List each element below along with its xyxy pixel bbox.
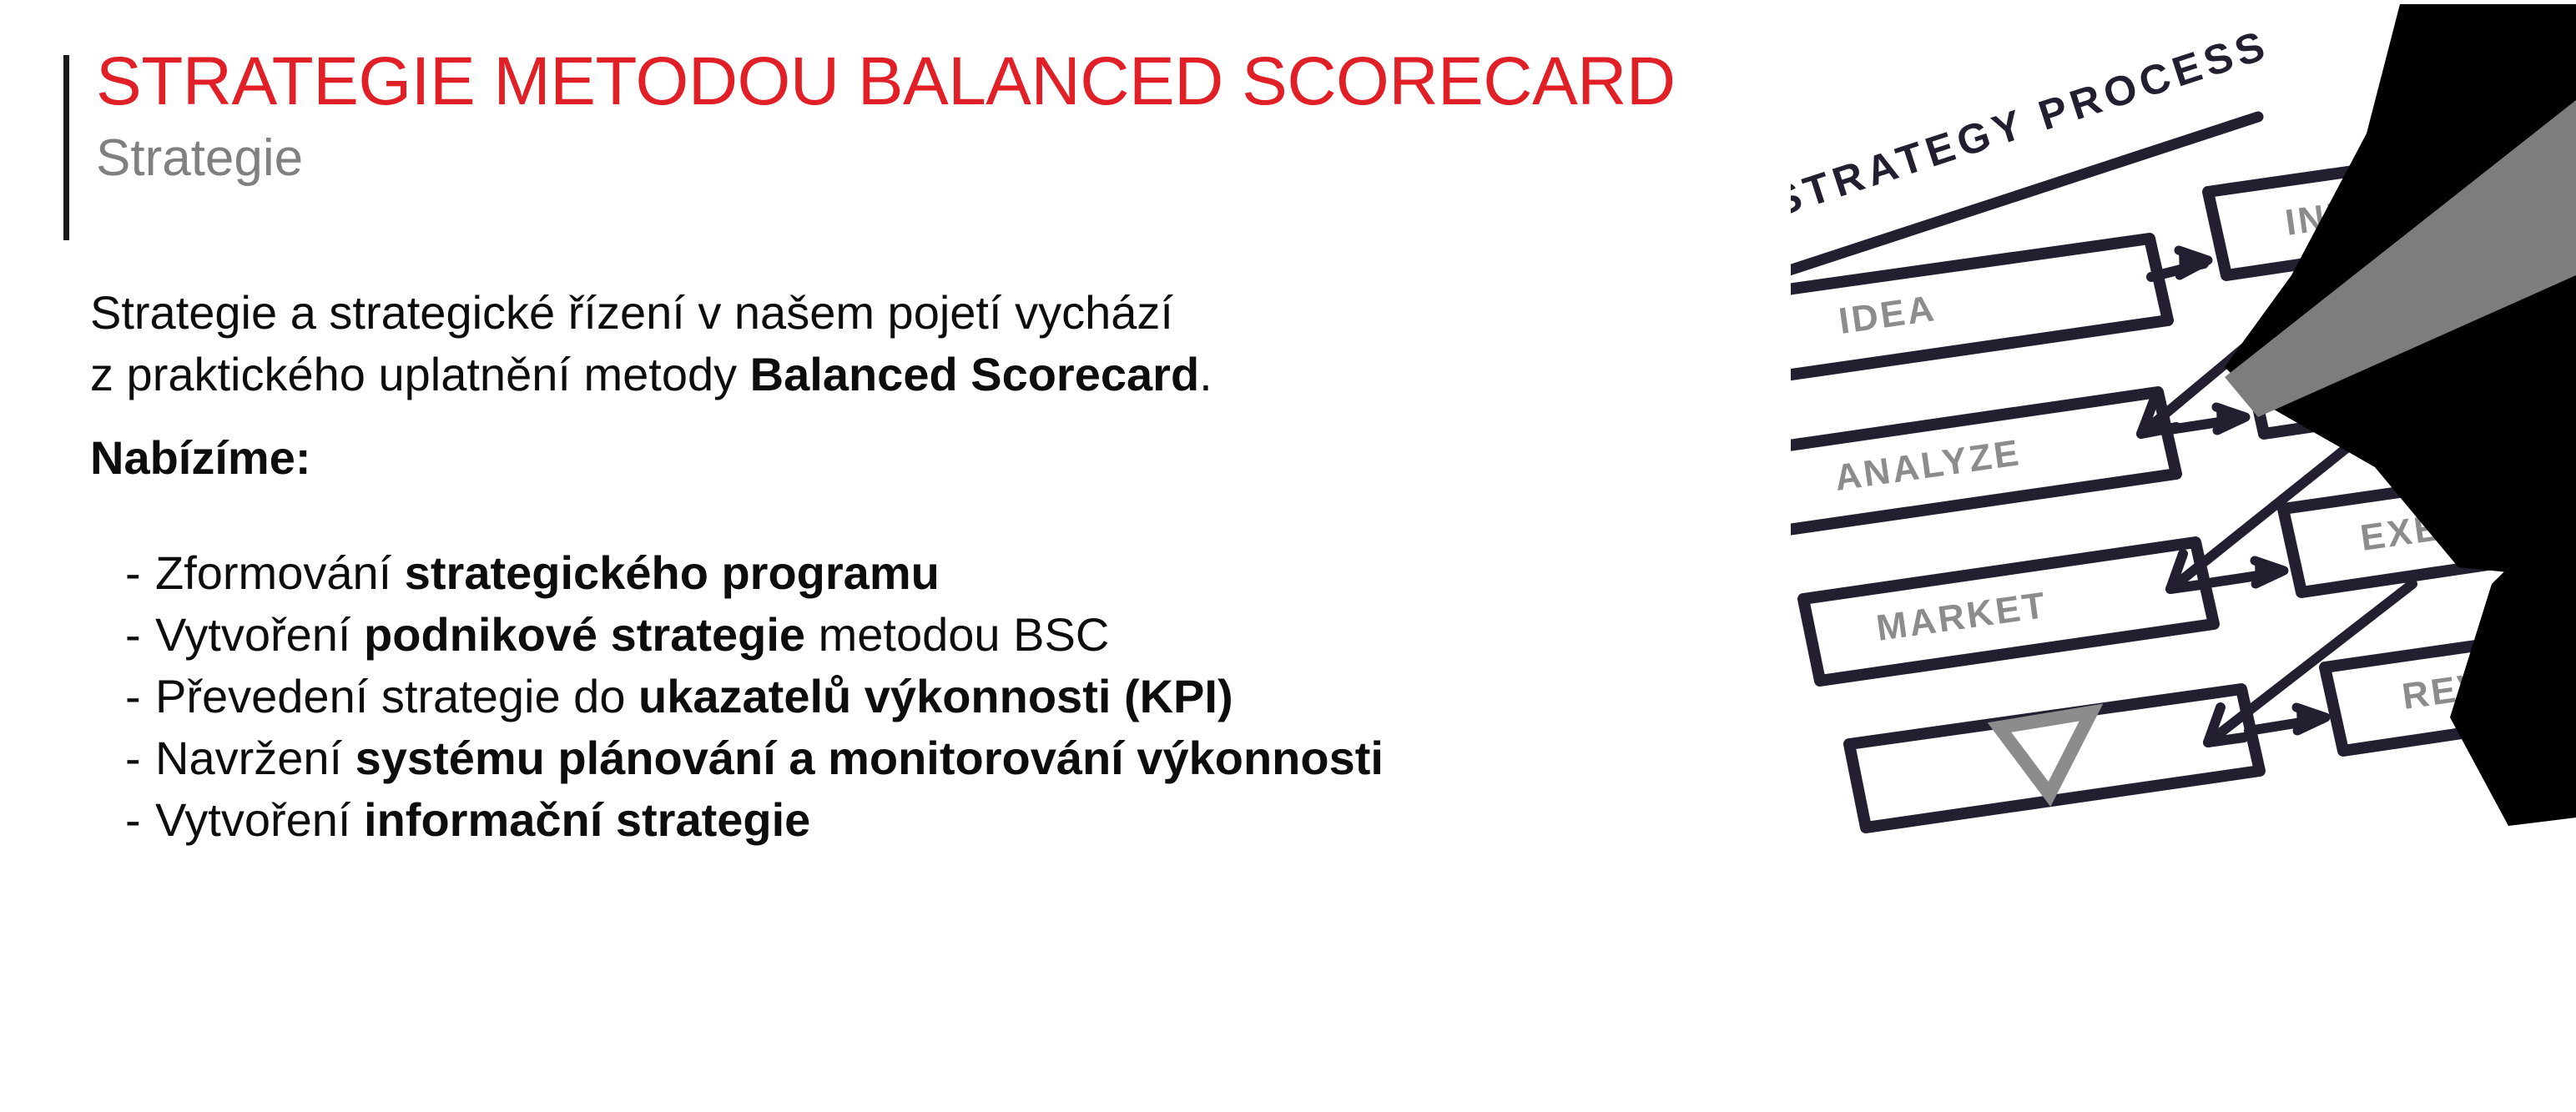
paragraph-line-2-bold: Balanced Scorecard [750, 348, 1199, 400]
paragraph-line-2: z praktického uplatnění metody Balanced … [90, 344, 1792, 405]
bullet-dash: - [125, 727, 155, 789]
paragraph-line-2-tail: . [1199, 348, 1212, 400]
list-item: -Vytvoření informační strategie [125, 789, 1794, 851]
list-item-bold: podnikové strategie [364, 608, 805, 661]
body-copy: Strategie a strategické řízení v našem p… [90, 282, 1792, 489]
list-item: -Navržení systému plánování a monitorová… [125, 727, 1794, 789]
bullet-dash: - [125, 604, 155, 666]
bullet-dash: - [125, 542, 155, 604]
list-item-bold: ukazatelů výkonnosti (KPI) [638, 670, 1233, 722]
list-item-lead: Vytvoření [155, 793, 364, 846]
list-item-lead: Navržení [155, 732, 355, 784]
list-item-lead: Zformování [155, 546, 405, 599]
list-item-lead: Převedení strategie do [155, 670, 638, 722]
page-subtitle: Strategie [96, 127, 303, 190]
list-item-lead: Vytvoření [155, 608, 364, 661]
whiteboard-photo: IDEA INN ANALYZE DEVE MARKET EXECUTE REV… [1791, 0, 2576, 1112]
offer-list: -Zformování strategického programu -Vytv… [125, 542, 1794, 851]
offer-label: Nabízíme: [90, 427, 1792, 489]
list-item: -Převedení strategie do ukazatelů výkonn… [125, 666, 1794, 727]
paragraph-line-2-lead: z praktického uplatnění metody [90, 348, 750, 400]
list-item-bold: informační strategie [364, 793, 810, 846]
header-accent-rule [63, 55, 69, 240]
bullet-dash: - [125, 789, 155, 851]
whiteboard-illustration: IDEA INN ANALYZE DEVE MARKET EXECUTE REV… [1791, 0, 2576, 1112]
list-item: -Zformování strategického programu [125, 542, 1794, 604]
page-title: STRATEGIE METODOU BALANCED SCORECARD [96, 42, 1676, 122]
bullet-dash: - [125, 666, 155, 727]
list-item-tail: metodou BSC [805, 608, 1109, 661]
paragraph-line-1: Strategie a strategické řízení v našem p… [90, 282, 1792, 344]
list-item-bold: systému plánování a monitorování výkonno… [355, 732, 1384, 784]
list-item-bold: strategického programu [405, 546, 940, 599]
list-item: -Vytvoření podnikové strategie metodou B… [125, 604, 1794, 666]
